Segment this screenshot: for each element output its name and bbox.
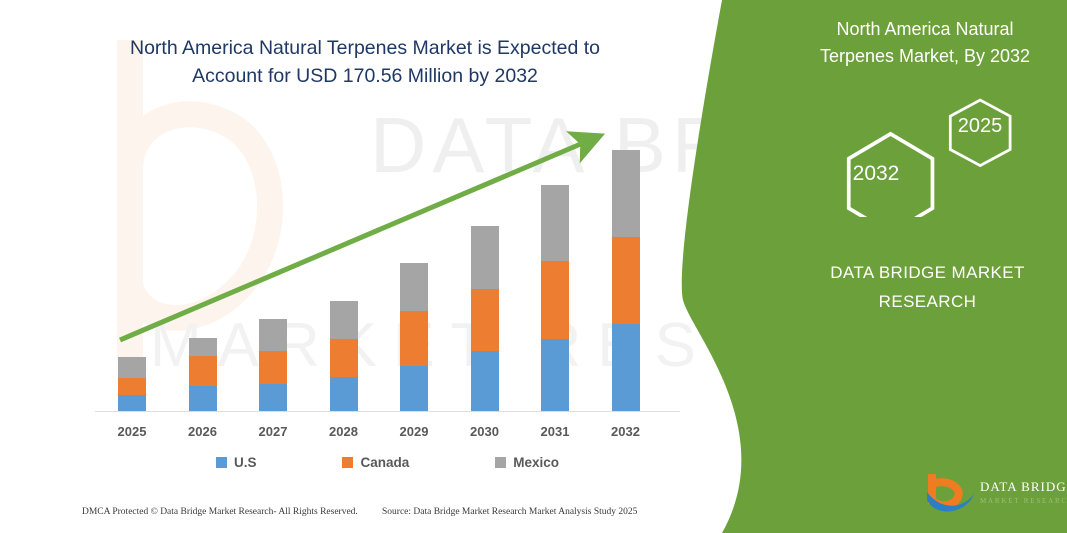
x-axis-label-2030: 2030 — [455, 424, 515, 439]
infographic-root: DATA BRIDGE MARKET RESEARCH North Americ… — [0, 0, 1067, 533]
legend-item-us[interactable]: U.S — [216, 455, 257, 470]
hexagon-2032-label: 2032 — [853, 162, 900, 185]
legend-swatch-icon — [495, 457, 506, 468]
legend-label: Mexico — [513, 455, 559, 470]
x-axis-label-2028: 2028 — [314, 424, 374, 439]
svg-text:MARKET RESEARCH: MARKET RESEARCH — [980, 497, 1067, 505]
brand-line-2: RESEARCH — [790, 287, 1065, 316]
svg-text:DATA BRIDGE: DATA BRIDGE — [980, 479, 1067, 494]
chart-title-line-1: North America Natural Terpenes Market is… — [60, 34, 670, 62]
x-axis-label-2031: 2031 — [525, 424, 585, 439]
brand-name: DATA BRIDGE MARKET RESEARCH — [790, 258, 1065, 316]
legend-item-canada[interactable]: Canada — [342, 455, 409, 470]
x-axis-label-2025: 2025 — [102, 424, 162, 439]
footer-source: Source: Data Bridge Market Research Mark… — [382, 507, 682, 517]
legend-label: Canada — [360, 455, 409, 470]
panel-title-line-2: Terpenes Market, By 2032 — [790, 43, 1060, 70]
chart-title: North America Natural Terpenes Market is… — [60, 34, 670, 90]
chart-title-line-2: Account for USD 170.56 Million by 2032 — [60, 62, 670, 90]
footer-copyright: DMCA Protected © Data Bridge Market Rese… — [82, 507, 382, 517]
brand-line-1: DATA BRIDGE MARKET — [790, 258, 1065, 287]
x-axis-label-2027: 2027 — [243, 424, 303, 439]
x-axis-label-2029: 2029 — [384, 424, 444, 439]
legend-item-mexico[interactable]: Mexico — [495, 455, 559, 470]
panel-title-line-1: North America Natural — [790, 16, 1060, 43]
dbmr-logo-icon: DATA BRIDGE MARKET RESEARCH — [918, 470, 1067, 516]
x-axis-label-2026: 2026 — [173, 424, 233, 439]
footer: DMCA Protected © Data Bridge Market Rese… — [82, 507, 682, 517]
panel-title: North America Natural Terpenes Market, B… — [790, 16, 1060, 70]
trend-arrow-icon — [95, 110, 695, 420]
hexagon-2025-label: 2025 — [958, 115, 1003, 137]
legend-swatch-icon — [216, 457, 227, 468]
chart-legend: U.SCanadaMexico — [95, 455, 680, 470]
brand-panel: North America Natural Terpenes Market, B… — [640, 0, 1067, 533]
hexagon-group: 2032 2025 — [810, 92, 1040, 217]
legend-swatch-icon — [342, 457, 353, 468]
legend-label: U.S — [234, 455, 257, 470]
